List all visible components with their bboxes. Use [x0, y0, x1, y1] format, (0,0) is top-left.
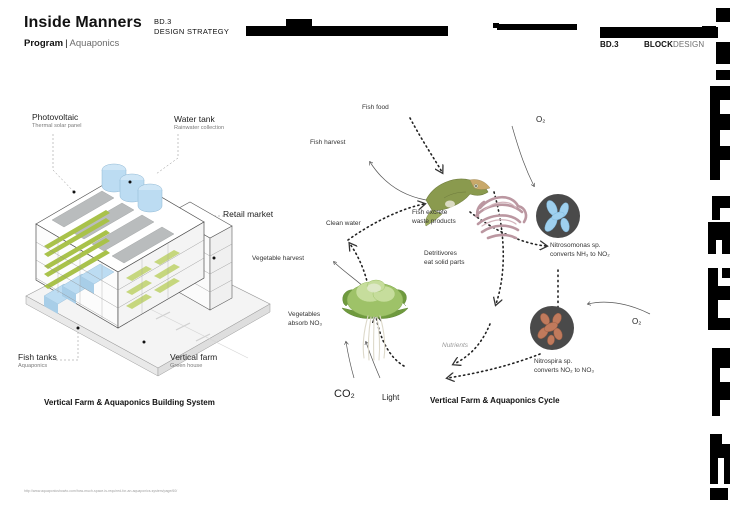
- edge-mark-6: [710, 114, 730, 130]
- brand-label: BD.3 BLOCKDESIGN: [600, 40, 718, 50]
- brand-name: BLOCKDESIGN: [644, 40, 704, 50]
- edge-mark-5: [710, 100, 720, 114]
- sheet-code: BD.3: [154, 17, 229, 27]
- edge-mark-17: [708, 286, 730, 300]
- edge-mark-21: [712, 368, 720, 382]
- label-nitrospira-line2: converts NO₂ to NO₃: [534, 367, 594, 375]
- label-water-tank-sub: Rainwater collection: [174, 125, 224, 132]
- label-oxygen-right: O₂: [632, 318, 641, 326]
- label-nitrosomonas-line2: converts NH₃ to NO₂: [550, 251, 610, 259]
- label-nitrospira-line1: Nitrospira sp.: [534, 358, 572, 366]
- aquaponics-cycle-diagram: Fish food Fish harvest Clean water Fish …: [258, 92, 688, 422]
- page-title: Inside Manners: [24, 14, 142, 32]
- label-fish-tanks: Fish tanks Aquaponics: [18, 352, 57, 370]
- edge-mark-8: [710, 146, 730, 160]
- label-clean-water: Clean water: [326, 220, 361, 228]
- label-fish-food: Fish food: [362, 104, 389, 112]
- building-system-diagram: Photovoltaic Thermal solar panel Water t…: [18, 96, 283, 416]
- header-marker-bar-2: [356, 26, 448, 36]
- page-header: Inside Manners Program|Aquaponics BD.3 D…: [0, 0, 730, 58]
- label-nutrients: Nutrients: [442, 342, 468, 350]
- header-marker-bar-0: [246, 26, 356, 36]
- title-block: Inside Manners Program|Aquaponics: [24, 14, 142, 49]
- edge-mark-15: [708, 268, 718, 286]
- edge-mark-27: [724, 458, 730, 484]
- label-vegetable-harvest: Vegetable harvest: [252, 255, 304, 263]
- edge-mark-23: [712, 400, 720, 416]
- edge-mark-4: [710, 86, 730, 100]
- nitrospira-icon: [530, 306, 574, 350]
- building-diagram-caption: Vertical Farm & Aquaponics Building Syst…: [44, 398, 215, 407]
- label-fish-excrete-line2: waste products: [412, 218, 456, 226]
- label-fish-excrete-line1: Fish excrete: [412, 209, 447, 217]
- edge-mark-13: [708, 240, 716, 254]
- label-co2: CO₂: [334, 390, 355, 398]
- brand-name-light: DESIGN: [673, 40, 704, 49]
- edge-mark-1: [702, 26, 716, 38]
- edge-mark-22: [712, 382, 730, 400]
- brand-name-bold: BLOCK: [644, 40, 673, 49]
- brand-code: BD.3: [600, 40, 619, 49]
- header-marker-bar-1: [286, 19, 312, 27]
- edge-mark-28: [710, 488, 728, 500]
- label-vegetables-line2: absorb NO₃: [288, 320, 322, 328]
- sheet-code-caption: DESIGN STRATEGY: [154, 27, 229, 37]
- label-oxygen-top: O₂: [536, 116, 545, 124]
- label-fish-tanks-title: Fish tanks: [18, 352, 57, 362]
- edge-mark-11: [712, 208, 720, 220]
- topic-label: Aquaponics: [70, 38, 120, 49]
- program-label: Program: [24, 38, 63, 49]
- building-isometric-illustration: [18, 96, 283, 416]
- label-detritivores-line1: Detritivores: [424, 250, 457, 258]
- label-fish-tanks-sub: Aquaponics: [18, 363, 57, 370]
- label-vertical-farm: Vertical farm Green house: [170, 352, 217, 370]
- label-light: Light: [382, 394, 399, 402]
- label-water-tank-title: Water tank: [174, 114, 224, 124]
- label-nitrosomonas-line1: Nitrosomonas sp.: [550, 242, 601, 250]
- edge-mark-24: [710, 434, 722, 444]
- nitrosomonas-icon: [536, 194, 580, 238]
- page-subtitle: Program|Aquaponics: [24, 38, 142, 49]
- edge-barcode-strip: [702, 0, 730, 516]
- brand-bar: [600, 27, 718, 38]
- lettuce-icon: [342, 280, 408, 360]
- label-water-tank: Water tank Rainwater collection: [174, 114, 224, 132]
- label-detritivores-line2: eat solid parts: [424, 259, 464, 267]
- sheet-code-block: BD.3 DESIGN STRATEGY: [154, 17, 229, 36]
- edge-mark-26: [710, 458, 718, 484]
- edge-mark-20: [712, 348, 730, 368]
- edge-mark-18: [708, 300, 718, 318]
- edge-mark-2: [716, 42, 730, 64]
- label-photovoltaic-title: Photovoltaic: [32, 112, 81, 122]
- header-marker-bar-3: [497, 24, 577, 30]
- cycle-diagram-caption: Vertical Farm & Aquaponics Cycle: [430, 396, 560, 405]
- label-vegetables-line1: Vegetables: [288, 311, 320, 319]
- label-photovoltaic-sub: Thermal solar panel: [32, 123, 81, 130]
- edge-mark-19: [708, 318, 730, 330]
- edge-mark-3: [716, 70, 730, 80]
- edge-mark-0: [716, 8, 730, 22]
- label-vertical-farm-title: Vertical farm: [170, 352, 217, 362]
- source-url: http://www.aquaponicshowto.com/how-much-…: [24, 489, 177, 494]
- label-photovoltaic: Photovoltaic Thermal solar panel: [32, 112, 81, 130]
- label-fish-harvest: Fish harvest: [310, 139, 345, 147]
- label-vertical-farm-sub: Green house: [170, 363, 217, 370]
- edge-mark-7: [710, 130, 720, 146]
- edge-mark-16: [722, 268, 730, 278]
- header-marker-bar-4: [493, 23, 499, 28]
- edge-mark-12: [708, 222, 730, 240]
- edge-mark-14: [722, 240, 730, 254]
- edge-mark-25: [710, 444, 730, 458]
- edge-mark-9: [710, 160, 720, 180]
- edge-mark-10: [712, 196, 730, 208]
